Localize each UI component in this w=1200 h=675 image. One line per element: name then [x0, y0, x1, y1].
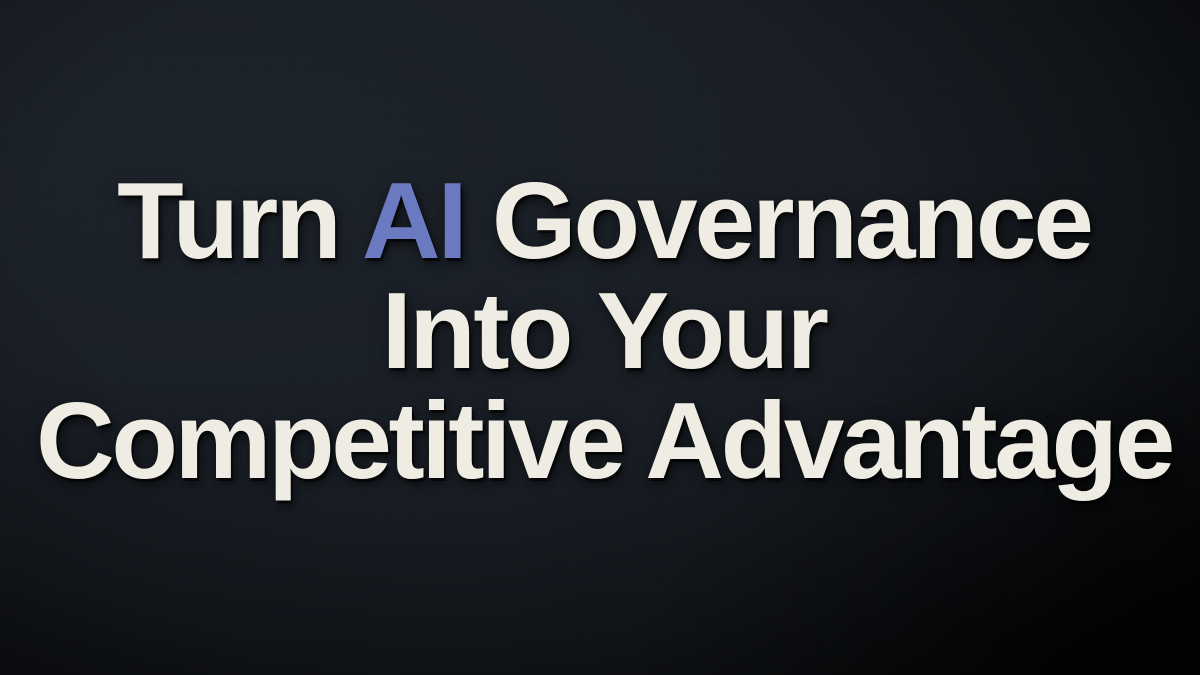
headline-line-3: Competitive Advantage: [8, 386, 1200, 496]
headline-accent-ai: AI: [362, 160, 465, 282]
title-slide: Turn AI Governance Into Your Competitive…: [0, 0, 1200, 675]
headline-block: Turn AI Governance Into Your Competitive…: [0, 0, 1200, 675]
headline-text-governance: Governance: [465, 160, 1091, 282]
headline-line-2: Into Your: [8, 276, 1200, 386]
headline-text-turn: Turn: [117, 160, 362, 282]
headline-line-1: Turn AI Governance: [8, 166, 1200, 276]
